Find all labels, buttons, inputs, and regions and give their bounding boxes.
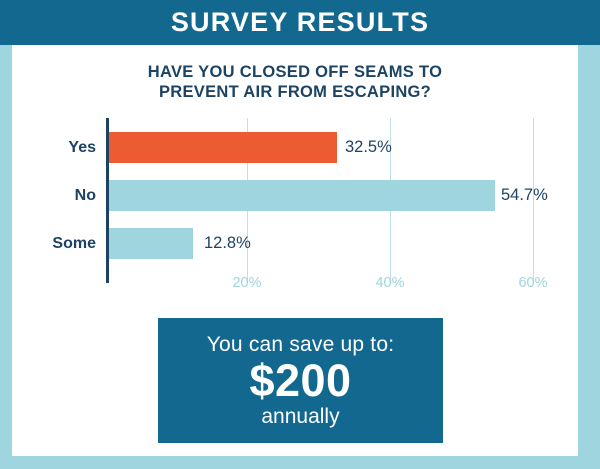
savings-period: annually <box>261 405 339 429</box>
page-title: SURVEY RESULTS <box>171 9 429 36</box>
survey-results-infographic: SURVEY RESULTS HAVE YOU CLOSED OFF SEAMS… <box>0 0 600 469</box>
savings-lead-text: You can save up to: <box>207 333 395 357</box>
bar-value-no: 54.7% <box>501 180 548 211</box>
bar-chart: Yes 32.5% No 54.7% Some 12.8% 20% 40% 60… <box>0 110 600 300</box>
bar-value-yes: 32.5% <box>345 132 392 163</box>
header-bar: SURVEY RESULTS <box>0 0 600 45</box>
chart-title-line-2: PREVENT AIR FROM ESCAPING? <box>12 82 578 102</box>
bar-category-label-yes: Yes <box>0 132 96 163</box>
x-tick-label-20: 20% <box>232 275 261 291</box>
x-tick-label-40: 40% <box>375 275 404 291</box>
savings-callout: You can save up to: $200 annually <box>158 318 443 443</box>
chart-title-line-1: HAVE YOU CLOSED OFF SEAMS TO <box>12 62 578 82</box>
bar-value-some: 12.8% <box>204 228 251 259</box>
bar-yes <box>109 132 337 163</box>
bar-some <box>109 228 193 259</box>
bar-no <box>109 180 495 211</box>
chart-title: HAVE YOU CLOSED OFF SEAMS TO PREVENT AIR… <box>12 62 578 102</box>
frame-border-bottom <box>0 456 600 469</box>
x-tick-label-60: 60% <box>518 275 547 291</box>
bar-category-label-some: Some <box>0 228 96 259</box>
bar-category-label-no: No <box>0 180 96 211</box>
savings-amount: $200 <box>249 357 351 405</box>
